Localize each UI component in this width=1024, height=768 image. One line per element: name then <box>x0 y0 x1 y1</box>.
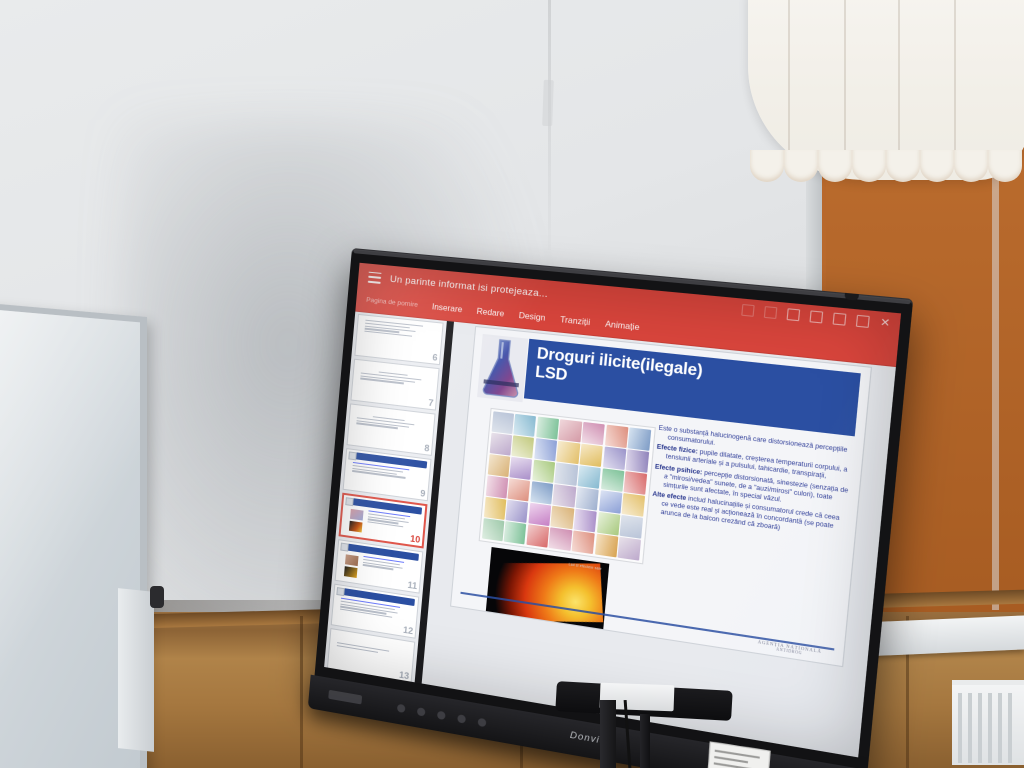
slide-number: 13 <box>399 671 410 682</box>
blotter-tab <box>530 481 553 504</box>
tab-redare[interactable]: Redare <box>476 306 504 318</box>
blotter-tab <box>534 438 557 461</box>
wall-patch <box>542 80 554 126</box>
blotter-tab <box>574 509 597 532</box>
blotter-tab <box>624 471 648 494</box>
blotter-tab <box>582 422 605 445</box>
blotter-tab <box>618 537 642 560</box>
slide-number: 12 <box>403 626 414 637</box>
blotter-tab <box>508 479 531 502</box>
radiator <box>952 680 1024 765</box>
display-stand-column <box>600 700 616 768</box>
blotter-tab <box>532 460 555 483</box>
blotter-tab <box>491 411 514 433</box>
blotter-tab <box>551 506 574 529</box>
blotter-tab <box>481 518 504 541</box>
chemistry-flask-image <box>477 334 528 402</box>
undo-icon[interactable] <box>741 304 754 317</box>
blotter-tab <box>628 427 652 450</box>
slide-body-text: Este o substanță halucinogenă care disto… <box>642 424 854 636</box>
blotter-tab <box>485 476 508 499</box>
blotter-tab <box>513 414 536 437</box>
blotter-tab <box>536 417 559 440</box>
camera-icon <box>844 293 859 301</box>
slide-number: 9 <box>420 489 426 499</box>
slide-number: 7 <box>428 399 434 409</box>
thumbnail-slide-6[interactable]: 6 <box>354 314 443 365</box>
tab-inserare[interactable]: Inserare <box>432 302 463 314</box>
blotter-tab <box>601 468 625 491</box>
blotter-tab <box>595 534 618 557</box>
blotter-tab <box>510 457 533 480</box>
blotter-tab <box>605 425 629 448</box>
blotter-tab <box>599 490 622 513</box>
tab-design[interactable]: Design <box>518 310 545 322</box>
blotter-tab <box>572 531 595 554</box>
blotter-tab <box>528 503 551 526</box>
blotter-tab <box>622 493 646 516</box>
window-mullion <box>992 140 999 610</box>
blotter-tab <box>597 512 620 535</box>
classroom-scene: Un parinte informat isi protejeaza... ✕ … <box>0 0 1024 768</box>
share-icon[interactable] <box>809 310 823 323</box>
blotter-tab <box>580 444 603 467</box>
slide-number: 8 <box>424 444 430 454</box>
thumbnail-slide-9[interactable]: 9 <box>343 448 432 501</box>
fire-comet-image: Lsd si efectele sale <box>485 547 609 636</box>
blotter-tab <box>555 463 578 486</box>
wainscot-seam <box>300 616 303 768</box>
thumbnail-slide-7[interactable]: 7 <box>350 359 439 411</box>
blotter-tab <box>578 466 601 489</box>
curtain-scallop-edge <box>748 150 1024 184</box>
blotter-tab <box>557 441 580 464</box>
thumbnail-slide-10[interactable]: 10 <box>339 493 428 549</box>
display-stand-column-2 <box>640 714 650 768</box>
redo-icon[interactable] <box>764 306 778 319</box>
comments-icon[interactable] <box>833 313 847 326</box>
hamburger-menu-icon[interactable] <box>368 271 382 283</box>
whiteboard-tray <box>118 588 154 752</box>
tab-pagina-de-pornire[interactable]: Pagina de pornire <box>366 296 418 308</box>
slide-number: 6 <box>432 353 438 363</box>
blotter-tab <box>483 497 506 520</box>
blotter-tab <box>626 449 650 472</box>
search-icon[interactable] <box>787 308 801 321</box>
blotter-tab <box>504 522 527 545</box>
tab-animatie[interactable]: Animație <box>605 319 640 332</box>
blotter-tab <box>506 500 529 523</box>
blotter-tab <box>487 454 510 477</box>
blotter-tab <box>526 525 549 548</box>
lsd-blotter-grid-image <box>479 409 654 563</box>
tab-tranzitii[interactable]: Tranziții <box>560 314 591 326</box>
current-slide[interactable]: Droguri ilicite(ilegale) LSD Lsd si efec… <box>451 327 871 665</box>
blotter-tab <box>603 447 627 470</box>
slide-number: 10 <box>410 534 421 544</box>
whiteboard-knob <box>150 586 164 608</box>
blotter-tab <box>512 435 535 458</box>
thumbnail-slide-8[interactable]: 8 <box>347 403 436 456</box>
blotter-tab <box>620 515 644 538</box>
blotter-tab <box>559 419 582 442</box>
blotter-tab <box>576 487 599 510</box>
blotter-tab <box>553 484 576 507</box>
blotter-tab <box>489 433 512 456</box>
blotter-tab <box>549 528 572 551</box>
close-icon[interactable]: ✕ <box>879 318 891 329</box>
slide-number: 11 <box>407 581 417 591</box>
edit-icon[interactable] <box>856 315 870 328</box>
